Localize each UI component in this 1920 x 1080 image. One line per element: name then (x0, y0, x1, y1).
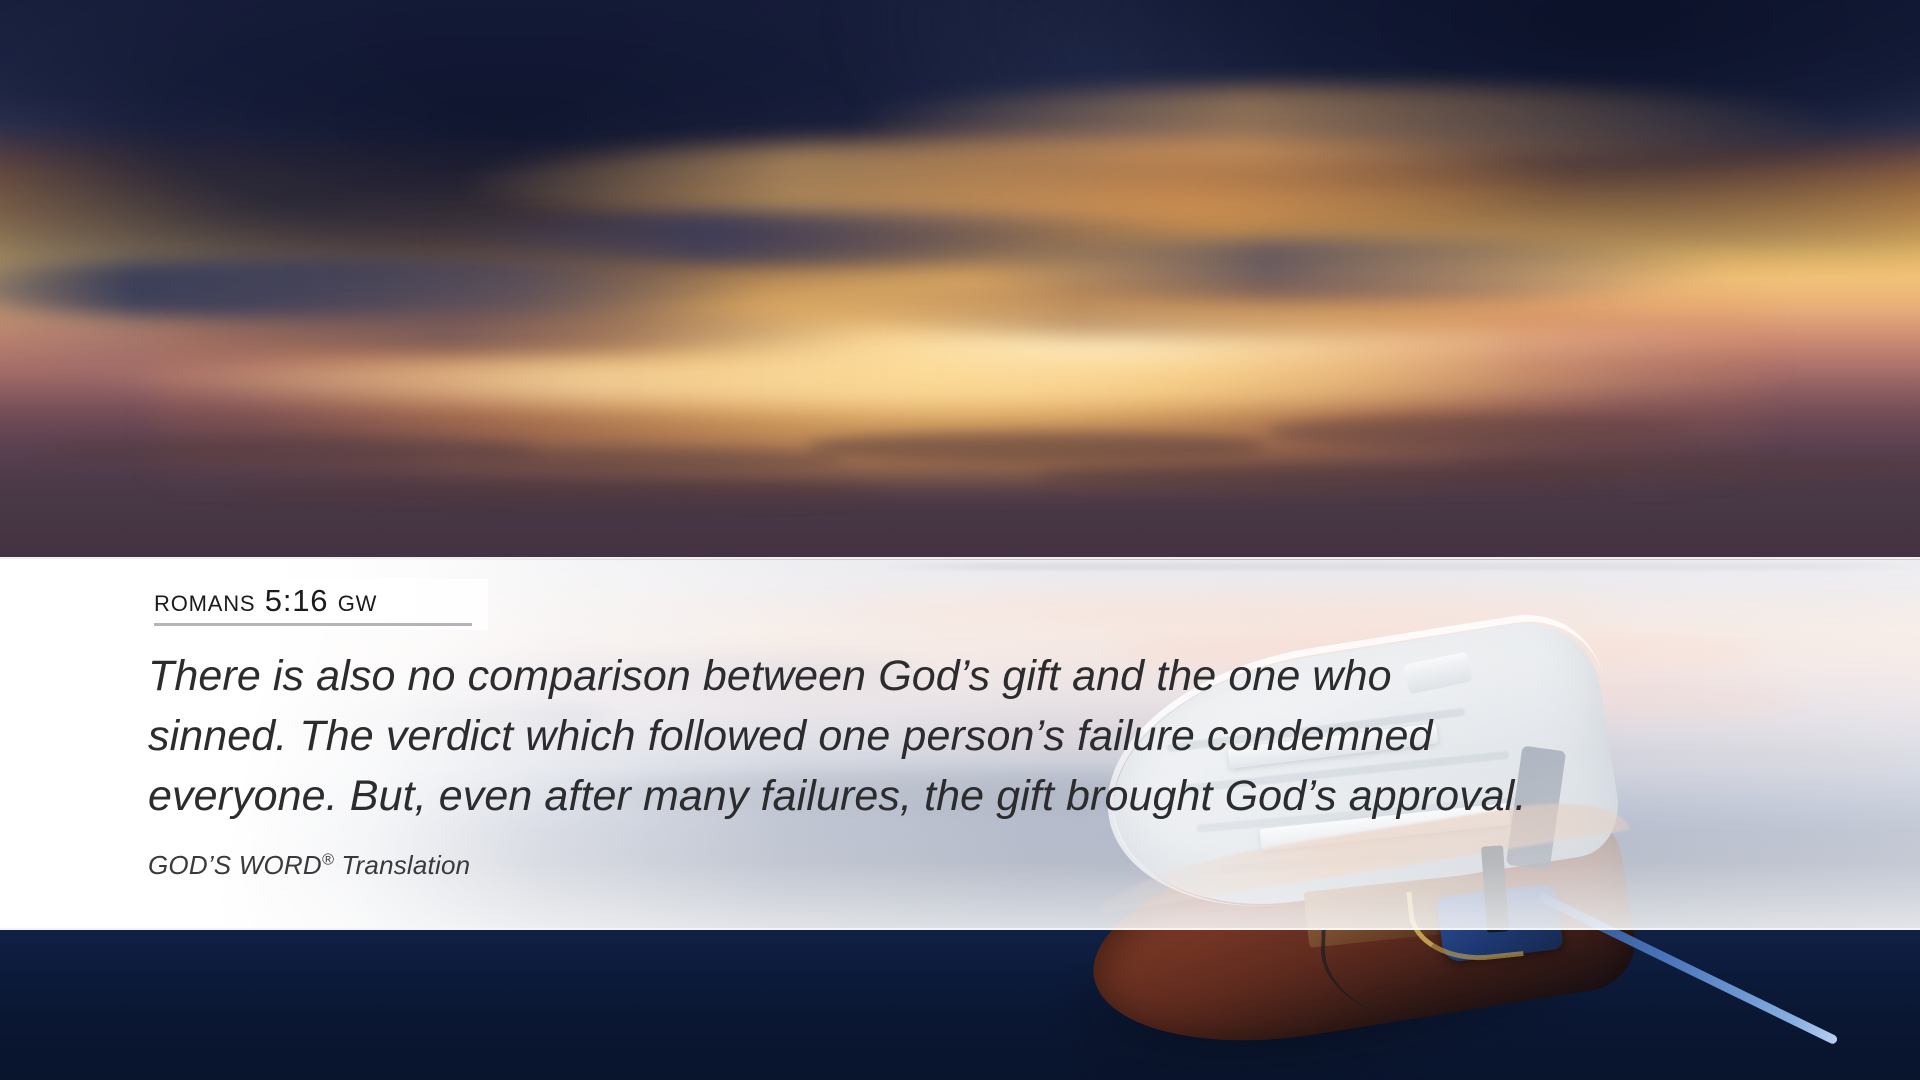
verse-line: sinned. The verdict which followed one p… (148, 706, 1748, 766)
registered-trademark-icon: ® (322, 850, 334, 868)
verse-line: There is also no comparison between God’… (148, 646, 1748, 706)
verse-text: There is also no comparison between God’… (148, 646, 1748, 826)
low-cloud (1459, 454, 1920, 482)
cloud-streak (768, 281, 1651, 337)
low-cloud (1267, 416, 1689, 448)
translation-suffix: Translation (334, 850, 470, 880)
translation-name: GOD’S WORD (148, 850, 322, 880)
verse-reference-block: Romans 5:16 GW (148, 585, 482, 626)
low-cloud (806, 432, 1267, 462)
verse-panel: Romans 5:16 GW There is also no comparis… (0, 557, 1920, 930)
cloud-band (77, 356, 1805, 405)
cloud-band (845, 86, 1843, 162)
verse-wallpaper: Romans 5:16 GW There is also no comparis… (0, 0, 1920, 1080)
low-cloud (461, 448, 845, 472)
translation-attribution: GOD’S WORD® Translation (148, 850, 1880, 881)
reference-underline (154, 623, 472, 626)
verse-line: everyone. But, even after many failures,… (148, 766, 1748, 826)
cloud-streak (154, 308, 884, 353)
verse-reference: Romans 5:16 GW (154, 585, 472, 618)
panel-content: Romans 5:16 GW There is also no comparis… (148, 585, 1880, 881)
low-cloud (230, 481, 883, 505)
